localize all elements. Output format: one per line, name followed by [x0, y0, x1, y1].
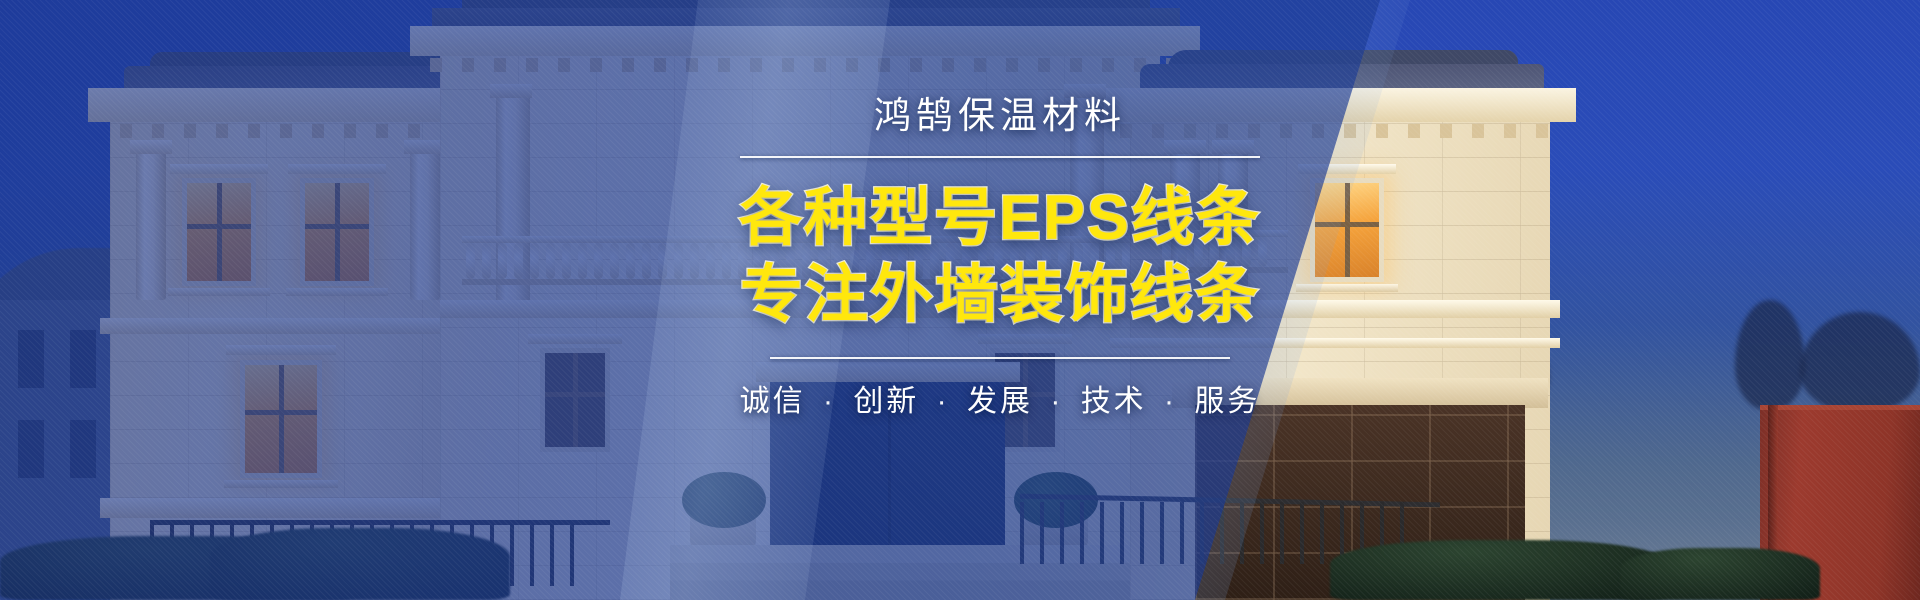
- divider-top: [740, 156, 1260, 158]
- slogan-item-1: 诚信: [740, 385, 806, 418]
- slogan-item-4: 技术: [1081, 385, 1147, 418]
- slogan-separator: ·: [1050, 385, 1063, 418]
- divider-bottom: [770, 357, 1230, 359]
- slogan-separator: ·: [1164, 385, 1177, 418]
- headline-line-2: 专注外墙装饰线条: [690, 257, 1310, 334]
- headline-line-1: 各种型号EPS线条: [690, 180, 1310, 257]
- slogan: 诚信 · 创新 · 发展 · 技术 · 服务: [690, 376, 1310, 420]
- slogan-item-3: 发展: [967, 385, 1033, 418]
- headline-block: 各种型号EPS线条 专注外墙装饰线条: [690, 180, 1310, 334]
- slogan-item-2: 创新: [853, 385, 919, 418]
- brand-name: 鸿鹄保温材料: [690, 96, 1310, 137]
- slogan-separator: ·: [823, 385, 836, 418]
- banner-copy: 鸿鹄保温材料 各种型号EPS线条 专注外墙装饰线条 诚信 · 创新 · 发展 ·…: [690, 96, 1310, 420]
- hero-banner: 鸿鹄保温材料 各种型号EPS线条 专注外墙装饰线条 诚信 · 创新 · 发展 ·…: [0, 0, 1920, 600]
- slogan-item-5: 服务: [1194, 385, 1260, 418]
- slogan-separator: ·: [937, 385, 950, 418]
